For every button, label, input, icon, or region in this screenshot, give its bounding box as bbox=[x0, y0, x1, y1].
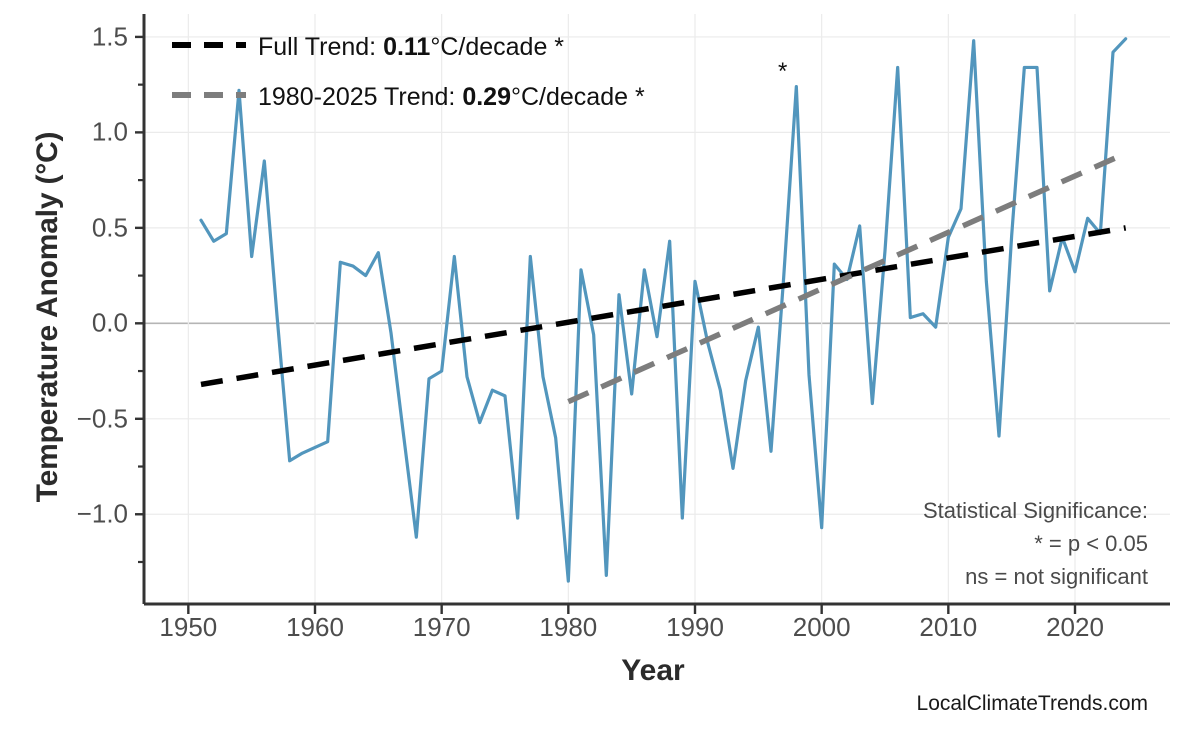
legend-full-suffix: °C/decade * bbox=[430, 33, 564, 61]
watermark-attribution: LocalClimateTrends.com bbox=[917, 692, 1148, 716]
legend-recent-value: 0.29 bbox=[462, 83, 511, 111]
legend-full-trend: Full Trend: 0.11°C/decade * bbox=[258, 33, 564, 62]
legend-full-prefix: Full Trend: bbox=[258, 33, 383, 61]
significance-star-note: * = p < 0.05 bbox=[1034, 531, 1148, 557]
legend-recent-prefix: 1980-2025 Trend: bbox=[258, 83, 462, 111]
significance-ns-note: ns = not significant bbox=[965, 564, 1148, 590]
legend-recent-suffix: °C/decade * bbox=[511, 83, 645, 111]
recent-trend-line bbox=[568, 153, 1125, 401]
legend-recent-trend: 1980-2025 Trend: 0.29°C/decade * bbox=[258, 83, 645, 112]
legend-full-value: 0.11 bbox=[383, 33, 430, 61]
significance-title: Statistical Significance: bbox=[923, 498, 1148, 524]
climate-trend-chart: Temperature Anomaly (°C) Year 1.51.00.50… bbox=[0, 0, 1186, 737]
peak-significance-star: * bbox=[778, 58, 787, 86]
